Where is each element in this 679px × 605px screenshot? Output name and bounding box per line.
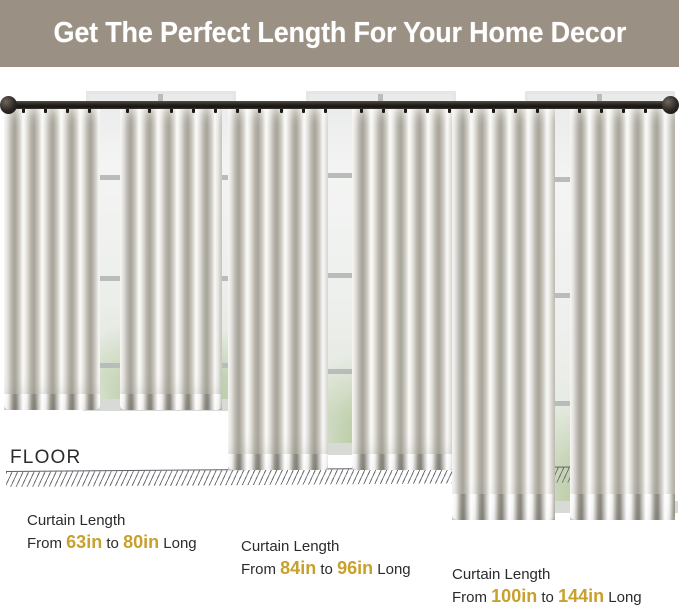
curtain-rod xyxy=(10,101,669,109)
caption-from-word: From xyxy=(241,561,276,578)
caption-title: Curtain Length xyxy=(452,565,642,585)
curtain-panel-short-left xyxy=(4,108,100,410)
caption-to-word: to xyxy=(541,589,554,605)
caption-long-word: Long xyxy=(377,561,410,578)
curtain-panel-medium-right xyxy=(352,108,454,470)
caption-short: Curtain Length From 63in to 80in Long xyxy=(27,511,197,555)
caption-medium: Curtain Length From 84in to 96in Long xyxy=(241,537,411,581)
curtain-panel-short-right xyxy=(120,108,222,410)
caption-to-word: to xyxy=(320,561,333,578)
caption-max-value: 96in xyxy=(337,558,373,578)
caption-from-word: From xyxy=(452,589,487,605)
caption-range: From 84in to 96in Long xyxy=(241,557,411,581)
rod-finial-left-icon xyxy=(0,96,17,114)
floor-label: FLOOR xyxy=(10,447,81,469)
caption-to-word: to xyxy=(106,535,119,552)
banner-title: Get The Perfect Length For Your Home Dec… xyxy=(53,19,626,48)
caption-long-word: Long xyxy=(608,589,641,605)
caption-max-value: 144in xyxy=(558,586,604,605)
caption-min-value: 63in xyxy=(66,532,102,552)
curtain-panel-long-right xyxy=(570,108,675,520)
curtain-panel-medium-left xyxy=(228,108,328,470)
product-infographic: Get The Perfect Length For Your Home Dec… xyxy=(0,0,679,605)
caption-range: From 63in to 80in Long xyxy=(27,531,197,555)
header-banner: Get The Perfect Length For Your Home Dec… xyxy=(0,0,679,67)
caption-title: Curtain Length xyxy=(27,511,197,531)
rod-finial-right-icon xyxy=(662,96,679,114)
curtain-panel-long-left xyxy=(452,108,555,520)
caption-long: Curtain Length From 100in to 144in Long xyxy=(452,565,642,605)
caption-long-word: Long xyxy=(163,535,196,552)
caption-min-value: 100in xyxy=(491,586,537,605)
caption-title: Curtain Length xyxy=(241,537,411,557)
caption-min-value: 84in xyxy=(280,558,316,578)
caption-max-value: 80in xyxy=(123,532,159,552)
caption-from-word: From xyxy=(27,535,62,552)
caption-range: From 100in to 144in Long xyxy=(452,585,642,605)
